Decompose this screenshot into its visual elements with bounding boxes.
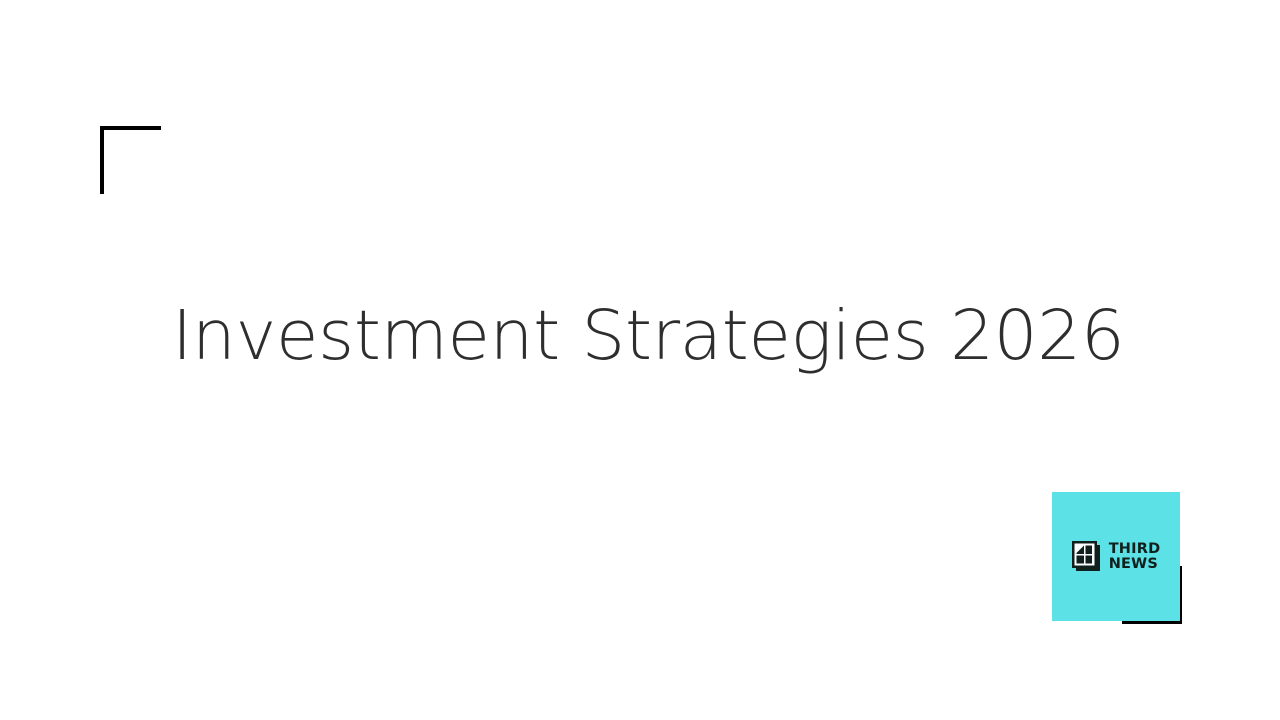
brand-wordmark-line-2: NEWS bbox=[1109, 557, 1161, 572]
presentation-slide: Investment Strategies 2026 bbox=[0, 0, 1280, 720]
logo-content: THIRD NEWS bbox=[1052, 492, 1180, 621]
newspaper-window-icon bbox=[1072, 541, 1102, 573]
corner-bracket-decoration bbox=[100, 126, 161, 194]
brand-wordmark: THIRD NEWS bbox=[1109, 542, 1161, 572]
corner-bracket-horizontal-bar bbox=[100, 126, 161, 130]
title-block: Investment Strategies 2026 bbox=[172, 296, 1112, 377]
page-title: Investment Strategies 2026 bbox=[172, 296, 1112, 377]
brand-logo-lockup: THIRD NEWS bbox=[1052, 492, 1182, 624]
corner-bracket-vertical-bar bbox=[100, 126, 104, 194]
brand-wordmark-line-1: THIRD bbox=[1109, 542, 1161, 557]
